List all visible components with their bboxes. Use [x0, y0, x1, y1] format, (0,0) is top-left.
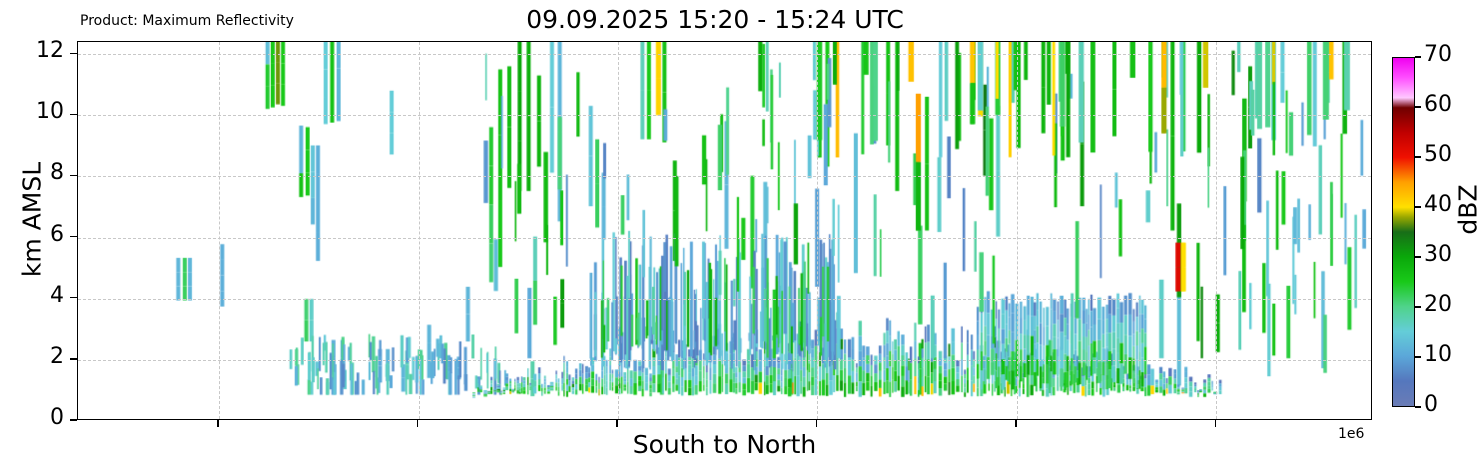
reflectivity-heatmap [78, 42, 1371, 419]
colorbar [1392, 57, 1415, 407]
x-axis-label: South to North [77, 430, 1372, 459]
gridline-vertical [1017, 42, 1018, 419]
y-axis-tick-label: 10 [10, 99, 64, 124]
y-axis-tickmark [70, 53, 77, 54]
gridline-horizontal [78, 115, 1371, 116]
colorbar-tickmark [1415, 206, 1421, 207]
x-axis-tickmark [616, 420, 617, 427]
colorbar-tickmark [1415, 406, 1421, 407]
colorbar-tick-label: 70 [1424, 42, 1452, 67]
x-axis-tickmark [1015, 420, 1016, 427]
x-axis-offset-label: 1e6 [1338, 426, 1364, 442]
gridline-horizontal [78, 238, 1371, 239]
colorbar-tickmark [1415, 256, 1421, 257]
colorbar-tick-label: 20 [1424, 292, 1452, 317]
gridline-horizontal [78, 299, 1371, 300]
product-label: Product: Maximum Reflectivity [80, 13, 294, 29]
colorbar-tick-label: 60 [1424, 92, 1452, 117]
colorbar-tickmark [1415, 356, 1421, 357]
x-axis-tickmark [217, 420, 218, 427]
y-axis-tick-label: 4 [10, 283, 64, 308]
x-axis-tickmark [816, 420, 817, 427]
radar-cross-section-figure: 09.09.2025 15:20 - 15:24 UTC Product: Ma… [0, 0, 1482, 470]
x-axis-tickmark [417, 420, 418, 427]
plot-area [77, 41, 1372, 420]
y-axis-tick-label: 0 [10, 405, 64, 430]
y-axis-tickmark [70, 236, 77, 237]
colorbar-tick-label: 50 [1424, 142, 1452, 167]
y-axis-tickmark [70, 175, 77, 176]
y-axis-tick-label: 8 [10, 160, 64, 185]
y-axis-tick-label: 6 [10, 222, 64, 247]
colorbar-tick-label: 10 [1424, 342, 1452, 367]
colorbar-tick-label: 0 [1424, 392, 1438, 417]
gridline-vertical [817, 42, 818, 419]
colorbar-tickmark [1415, 156, 1421, 157]
colorbar-gradient [1393, 58, 1414, 406]
gridline-horizontal [78, 54, 1371, 55]
colorbar-label: dBZ [1454, 140, 1482, 280]
colorbar-tick-label: 30 [1424, 242, 1452, 267]
gridline-vertical [1216, 42, 1217, 419]
gridline-horizontal [78, 360, 1371, 361]
y-axis-tickmark [70, 358, 77, 359]
y-axis-tickmark [70, 297, 77, 298]
colorbar-tick-label: 40 [1424, 192, 1452, 217]
gridline-vertical [618, 42, 619, 419]
gridline-vertical [219, 42, 220, 419]
y-axis-tickmark [70, 114, 77, 115]
colorbar-tickmark [1415, 56, 1421, 57]
y-axis-tickmark [70, 419, 77, 420]
gridline-horizontal [78, 176, 1371, 177]
y-axis-tick-label: 2 [10, 344, 64, 369]
colorbar-tickmark [1415, 106, 1421, 107]
colorbar-tickmark [1415, 306, 1421, 307]
gridline-vertical [419, 42, 420, 419]
x-axis-tickmark [1215, 420, 1216, 427]
y-axis-tick-label: 12 [10, 38, 64, 63]
